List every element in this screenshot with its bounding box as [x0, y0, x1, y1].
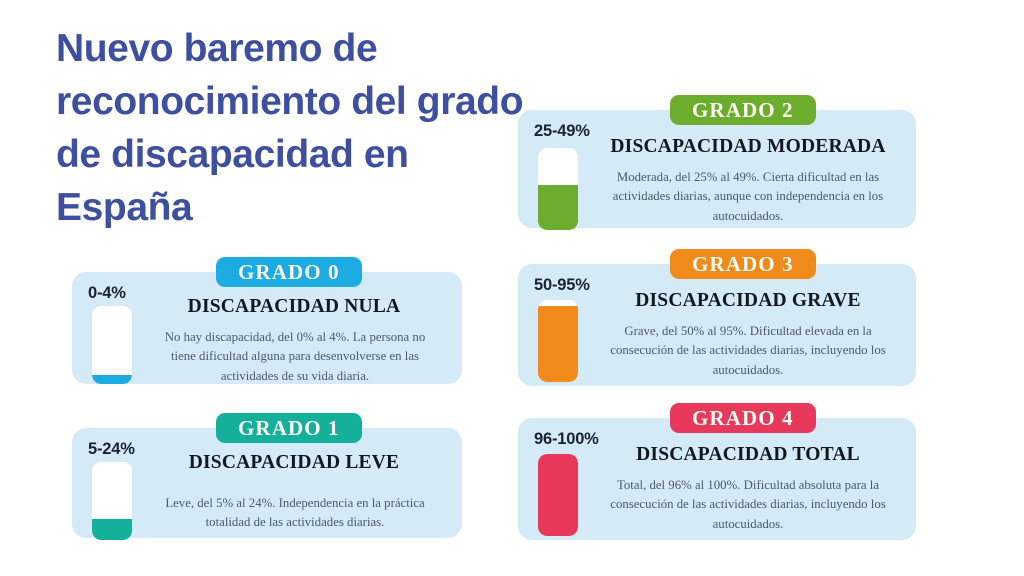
level-bar-fill-grado-1 [92, 519, 132, 540]
card-grado-2: 25-49% GRADO 2 DISCAPACIDAD MODERADA Mod… [518, 110, 916, 228]
badge-grado-2: GRADO 2 [670, 95, 816, 125]
level-bar-grado-2 [538, 148, 578, 230]
heading-grado-2: DISCAPACIDAD MODERADA [598, 136, 898, 158]
heading-grado-1: DISCAPACIDAD LEVE [146, 452, 442, 474]
percentage-label-grado-2: 25-49% [534, 122, 590, 141]
card-grado-1: 5-24% GRADO 1 DISCAPACIDAD LEVE Leve, de… [72, 428, 462, 538]
percentage-label-grado-0: 0-4% [88, 284, 126, 303]
level-bar-grado-1 [92, 462, 132, 540]
badge-grado-1: GRADO 1 [216, 413, 362, 443]
badge-grado-4: GRADO 4 [670, 403, 816, 433]
card-grado-4: 96-100% GRADO 4 DISCAPACIDAD TOTAL Total… [518, 418, 916, 540]
description-grado-2: Moderada, del 25% al 49%. Cierta dificul… [602, 168, 894, 226]
heading-grado-0: DISCAPACIDAD NULA [146, 296, 442, 318]
percentage-label-grado-1: 5-24% [88, 440, 135, 459]
level-bar-grado-3 [538, 300, 578, 382]
description-grado-1: Leve, del 5% al 24%. Independencia en la… [152, 494, 438, 533]
level-bar-fill-grado-2 [538, 185, 578, 230]
level-bar-grado-4 [538, 454, 578, 536]
card-grado-0: 0-4% GRADO 0 DISCAPACIDAD NULA No hay di… [72, 272, 462, 384]
heading-grado-3: DISCAPACIDAD GRAVE [598, 290, 898, 312]
card-grado-3: 50-95% GRADO 3 DISCAPACIDAD GRAVE Grave,… [518, 264, 916, 386]
level-bar-fill-grado-3 [538, 306, 578, 382]
page-title: Nuevo baremo de reconocimiento del grado… [56, 22, 526, 234]
description-grado-0: No hay discapacidad, del 0% al 4%. La pe… [152, 328, 438, 386]
percentage-label-grado-3: 50-95% [534, 276, 590, 295]
percentage-label-grado-4: 96-100% [534, 430, 599, 449]
badge-grado-3: GRADO 3 [670, 249, 816, 279]
level-bar-grado-0 [92, 306, 132, 384]
heading-grado-4: DISCAPACIDAD TOTAL [598, 444, 898, 466]
badge-grado-0: GRADO 0 [216, 257, 362, 287]
level-bar-fill-grado-4 [538, 454, 578, 536]
level-bar-fill-grado-0 [92, 375, 132, 384]
description-grado-4: Total, del 96% al 100%. Dificultad absol… [602, 476, 894, 534]
description-grado-3: Grave, del 50% al 95%. Dificultad elevad… [602, 322, 894, 380]
